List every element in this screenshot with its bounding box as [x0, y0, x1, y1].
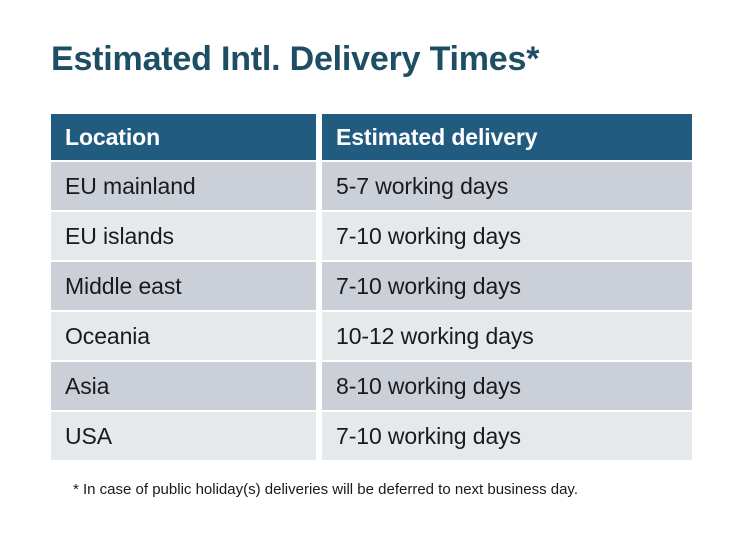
- cell-location: Middle east: [51, 262, 316, 310]
- table-header-row: Location Estimated delivery: [51, 114, 692, 160]
- table-row: Asia 8-10 working days: [51, 362, 692, 410]
- column-header-location: Location: [51, 114, 316, 160]
- cell-estimated-delivery: 7-10 working days: [322, 212, 692, 260]
- cell-estimated-delivery: 10-12 working days: [322, 312, 692, 360]
- table-row: USA 7-10 working days: [51, 412, 692, 460]
- cell-estimated-delivery: 7-10 working days: [322, 412, 692, 460]
- cell-location: EU mainland: [51, 162, 316, 210]
- cell-location: Asia: [51, 362, 316, 410]
- cell-location: EU islands: [51, 212, 316, 260]
- table-row: Oceania 10-12 working days: [51, 312, 692, 360]
- cell-location: USA: [51, 412, 316, 460]
- cell-estimated-delivery: 5-7 working days: [322, 162, 692, 210]
- cell-estimated-delivery: 7-10 working days: [322, 262, 692, 310]
- cell-estimated-delivery: 8-10 working days: [322, 362, 692, 410]
- table-row: Middle east 7-10 working days: [51, 262, 692, 310]
- cell-location: Oceania: [51, 312, 316, 360]
- page-title: Estimated Intl. Delivery Times*: [51, 37, 539, 81]
- footnote-text: * In case of public holiday(s) deliverie…: [73, 480, 578, 500]
- delivery-times-table: Location Estimated delivery EU mainland …: [51, 114, 692, 462]
- table-row: EU mainland 5-7 working days: [51, 162, 692, 210]
- table-row: EU islands 7-10 working days: [51, 212, 692, 260]
- delivery-times-page: Estimated Intl. Delivery Times* Location…: [0, 0, 745, 536]
- column-header-estimated-delivery: Estimated delivery: [322, 114, 692, 160]
